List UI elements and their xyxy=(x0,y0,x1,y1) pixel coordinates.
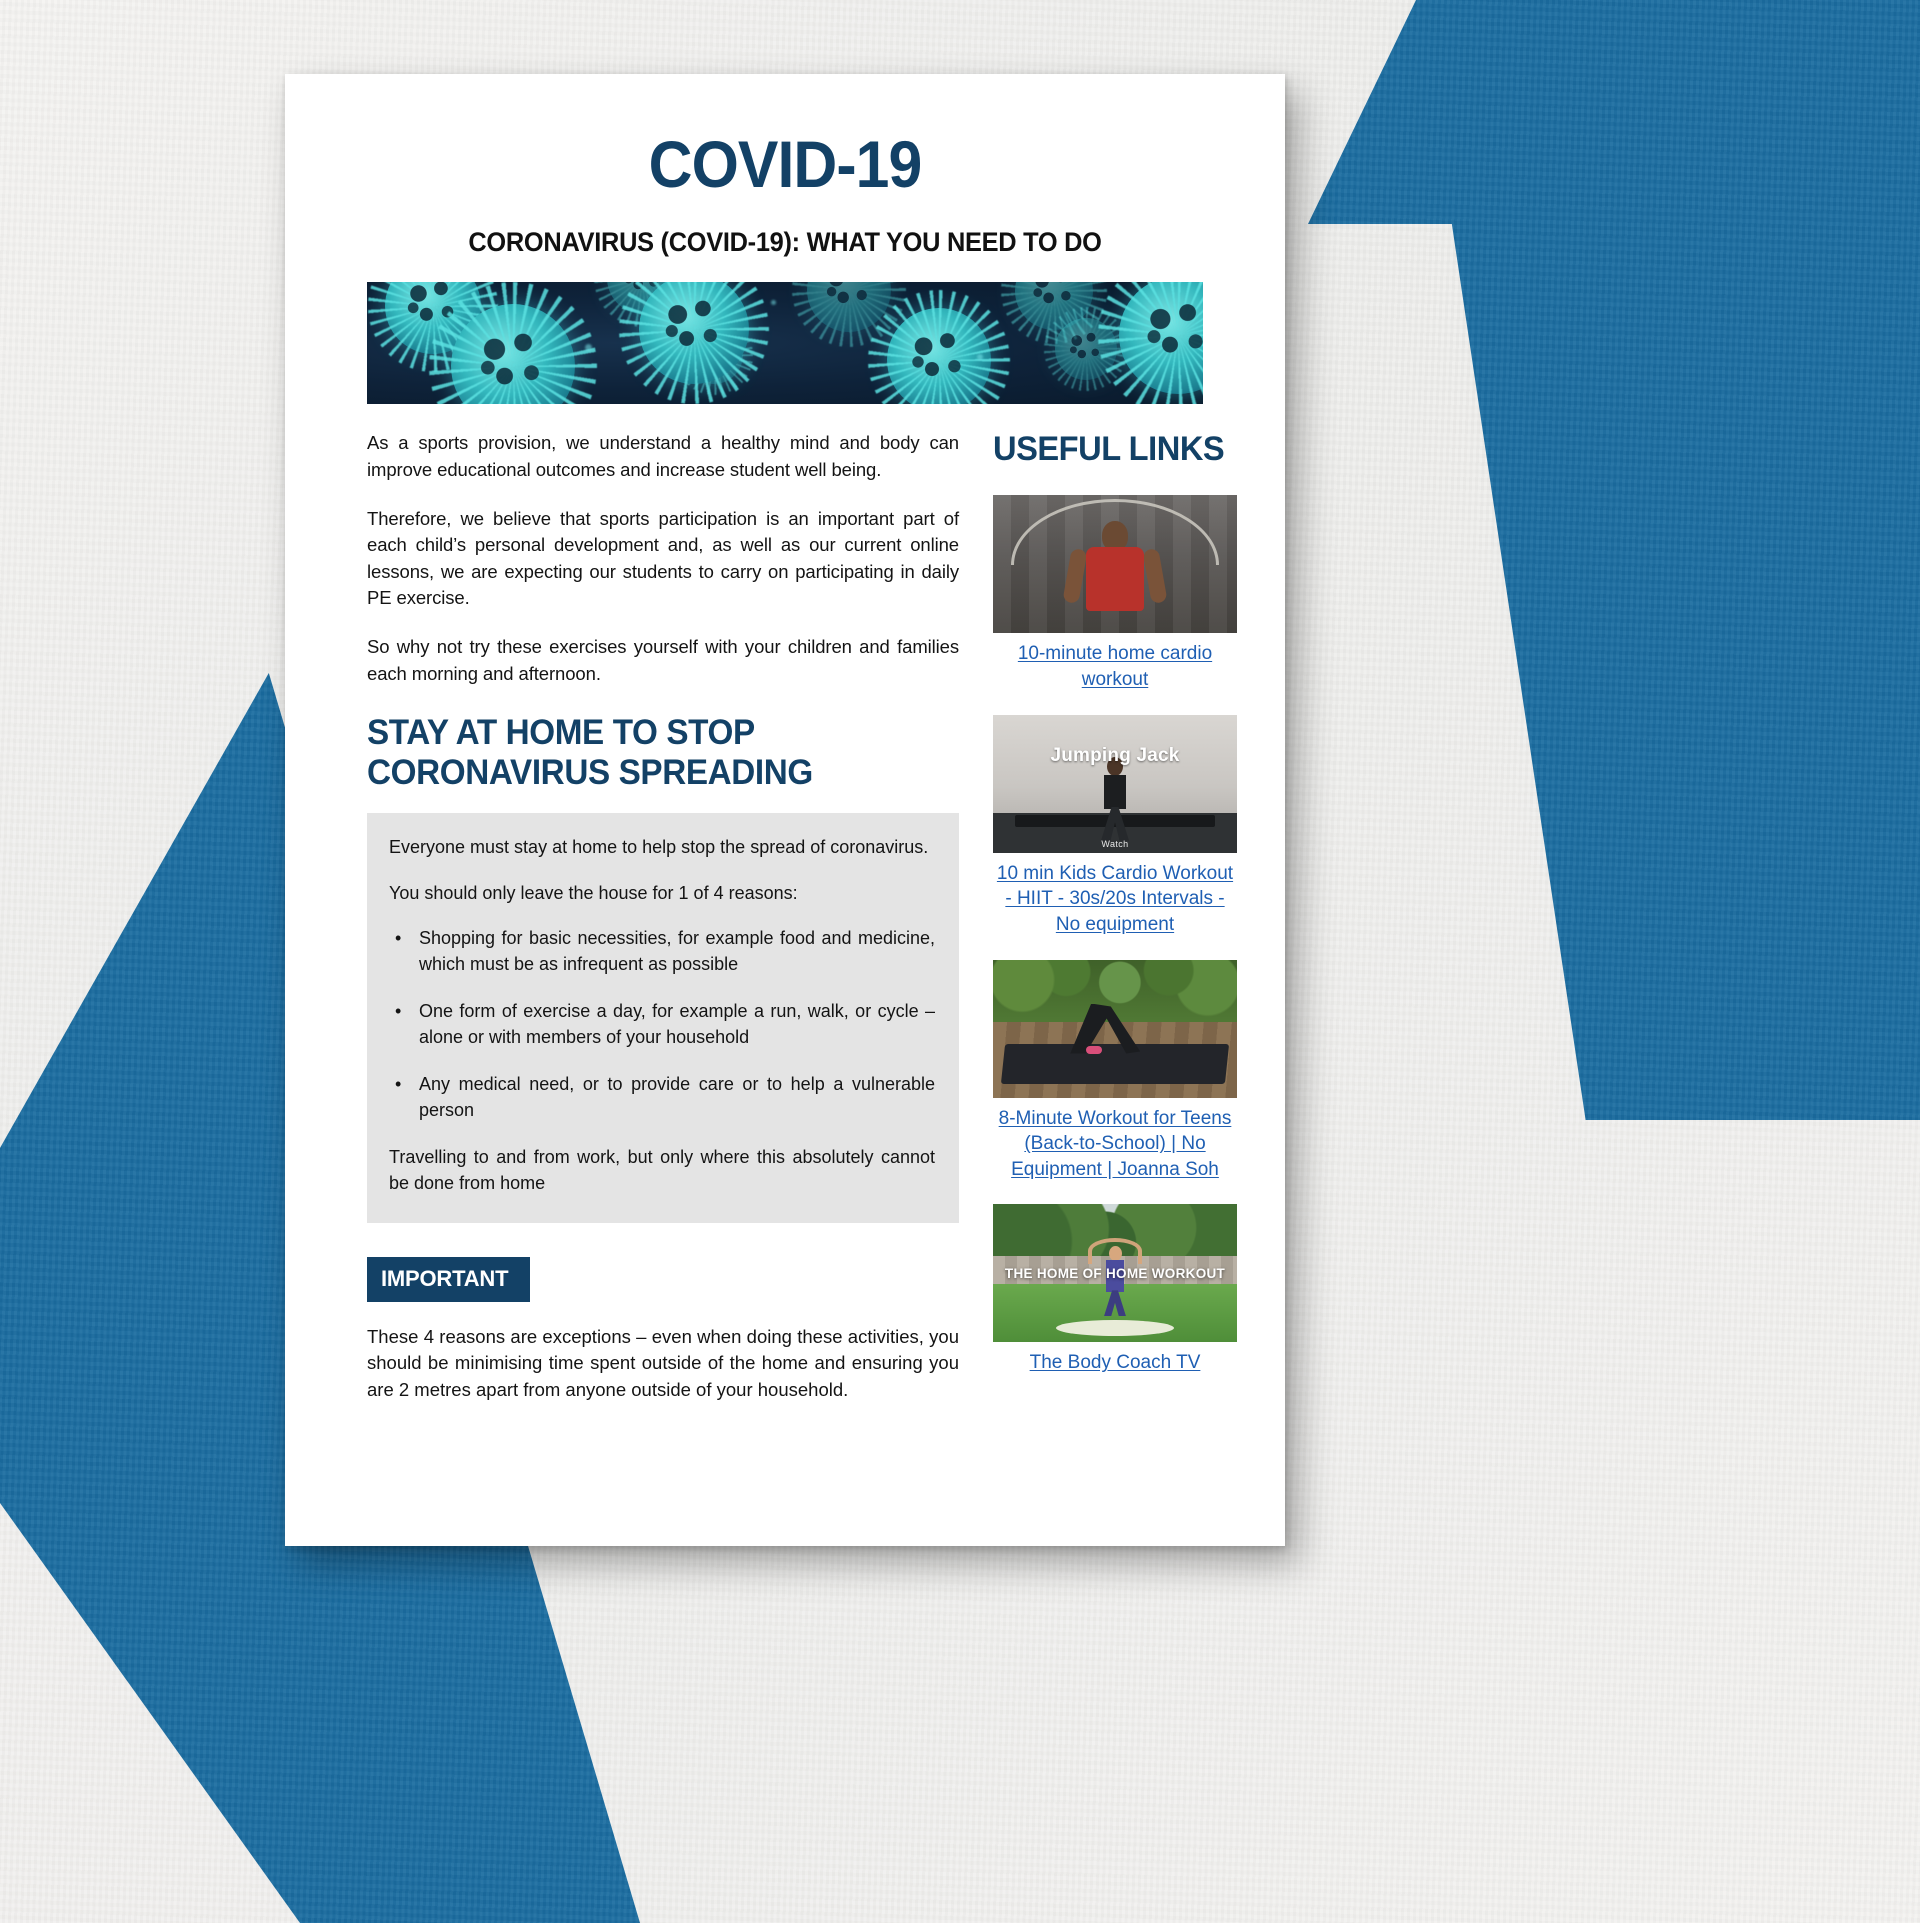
list-item[interactable]: THE HOME OF HOME WORKOUT The Body Coach … xyxy=(993,1204,1237,1376)
man-skipping-rope-thumbnail[interactable] xyxy=(993,495,1237,633)
useful-link-1[interactable]: 10-minute home cardio workout xyxy=(993,641,1237,692)
list-item[interactable]: 8-Minute Workout for Teens (Back-to-Scho… xyxy=(993,960,1237,1183)
useful-links-sidebar: USEFUL LINKS 10-minute home cardio worko… xyxy=(993,430,1237,1403)
stay-at-home-heading: STAY AT HOME TO STOP CORONAVIRUS SPREADI… xyxy=(367,713,929,793)
stay-home-lead-in-text: You should only leave the house for 1 of… xyxy=(389,881,935,907)
yoga-stretch-thumbnail[interactable] xyxy=(993,960,1237,1098)
thumbnail-overlay-text: Jumping Jack xyxy=(993,745,1237,767)
list-item[interactable]: 10-minute home cardio workout xyxy=(993,495,1237,692)
coronavirus-banner-image xyxy=(367,282,1203,404)
reason-text-1: Shopping for basic necessities, for exam… xyxy=(419,926,935,977)
reason-text-3: Any medical need, or to provide care or … xyxy=(419,1072,935,1123)
reason-text-2: One form of exercise a day, for example … xyxy=(419,999,935,1050)
page-subtitle: CORONAVIRUS (COVID-19): WHAT YOU NEED TO… xyxy=(392,227,1178,258)
useful-links-heading: USEFUL LINKS xyxy=(993,430,1227,469)
list-item[interactable]: Jumping Jack Watch 10 min Kids Cardio Wo… xyxy=(993,715,1237,938)
body-coach-garden-thumbnail[interactable]: THE HOME OF HOME WORKOUT xyxy=(993,1204,1237,1342)
intro-paragraph-3: So why not try these exercises yourself … xyxy=(367,634,959,687)
intro-paragraph-2: Therefore, we believe that sports partic… xyxy=(367,506,959,613)
stay-home-intro-text: Everyone must stay at home to help stop … xyxy=(389,835,935,861)
main-content-column: As a sports provision, we understand a h… xyxy=(367,430,959,1403)
status-badge: IMPORTANT xyxy=(367,1257,530,1302)
bullet-icon: • xyxy=(389,926,419,977)
list-item: • Shopping for basic necessities, for ex… xyxy=(389,926,935,977)
stay-home-closing-text: Travelling to and from work, but only wh… xyxy=(389,1145,935,1196)
thumbnail-overlay-text: THE HOME OF HOME WORKOUT xyxy=(993,1266,1237,1281)
list-item: • One form of exercise a day, for exampl… xyxy=(389,999,935,1050)
useful-link-4[interactable]: The Body Coach TV xyxy=(993,1350,1237,1376)
bullet-icon: • xyxy=(389,1072,419,1123)
thumbnail-watch-label: Watch xyxy=(993,839,1237,849)
reasons-list: • Shopping for basic necessities, for ex… xyxy=(389,926,935,1123)
intro-paragraph-1: As a sports provision, we understand a h… xyxy=(367,430,959,483)
jumping-jack-thumbnail[interactable]: Jumping Jack Watch xyxy=(993,715,1237,853)
poster-sheet: COVID-19 CORONAVIRUS (COVID-19): WHAT YO… xyxy=(285,74,1285,1546)
important-body-text: These 4 reasons are exceptions – even wh… xyxy=(367,1324,959,1404)
useful-link-2[interactable]: 10 min Kids Cardio Workout - HIIT - 30s/… xyxy=(993,861,1237,938)
useful-link-3[interactable]: 8-Minute Workout for Teens (Back-to-Scho… xyxy=(993,1106,1237,1183)
list-item: • Any medical need, or to provide care o… xyxy=(389,1072,935,1123)
bullet-icon: • xyxy=(389,999,419,1050)
page-title: COVID-19 xyxy=(400,130,1169,199)
stay-at-home-panel: Everyone must stay at home to help stop … xyxy=(367,813,959,1222)
